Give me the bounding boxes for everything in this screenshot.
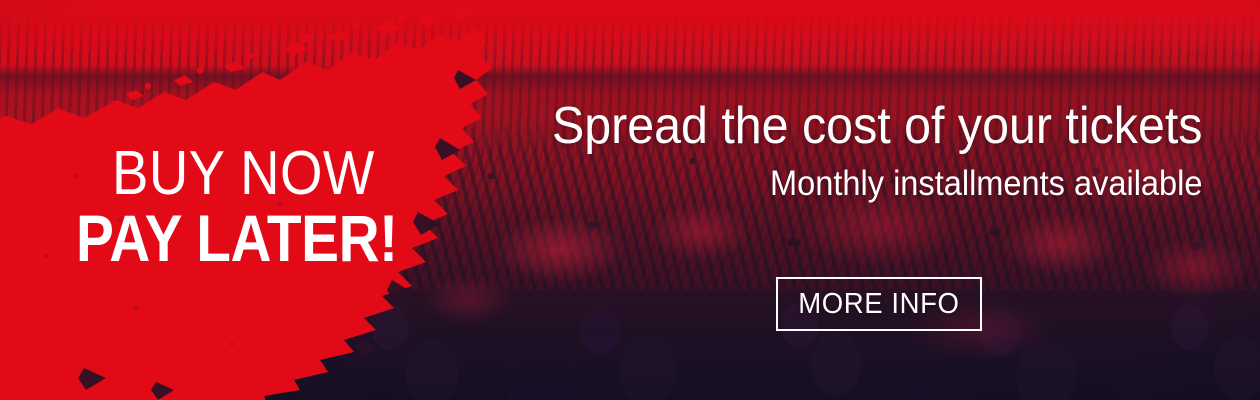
subheadline: Monthly installments available <box>551 166 1202 201</box>
promo-banner: BUY NOW PAY LATER! Spread the cost of yo… <box>0 0 1260 400</box>
headline: Spread the cost of your tickets <box>551 100 1202 152</box>
promo-line-buy-now: BUY NOW <box>112 146 381 202</box>
more-info-button[interactable]: MORE INFO <box>776 277 982 331</box>
promo-line-pay-later: PAY LATER! <box>76 208 370 269</box>
more-info-button-label: MORE INFO <box>798 290 959 319</box>
message-block: Spread the cost of your tickets Monthly … <box>503 100 1202 201</box>
promo-lockup: BUY NOW PAY LATER! <box>78 146 418 269</box>
